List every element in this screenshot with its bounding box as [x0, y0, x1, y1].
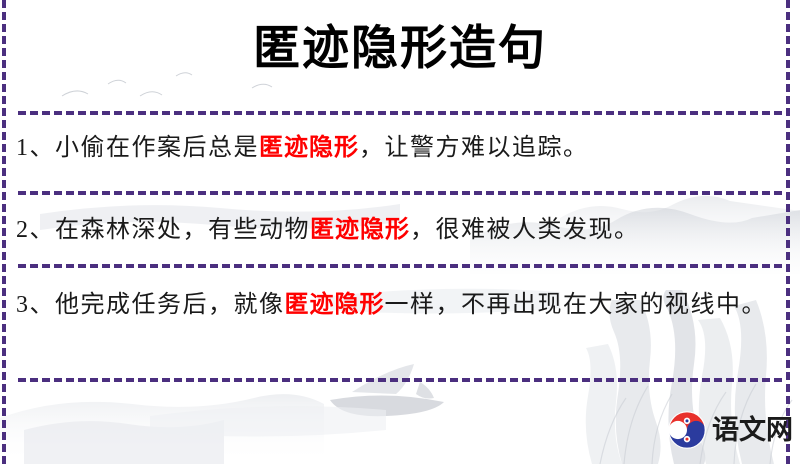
sentence-number: 1、 [16, 135, 55, 161]
sentence-text-before: 在森林深处，有些动物 [55, 217, 310, 243]
yinyang-fish-icon [668, 411, 706, 449]
sentence-item: 2、在森林深处，有些动物匿迹隐形，很难被人类发现。 [16, 209, 782, 251]
page-title: 匿迹隐形造句 [253, 20, 547, 78]
worksheet-page: 匿迹隐形造句 1、小偷在作案后总是匿迹隐形，让警方难以追踪。 2、在森林深处，有… [0, 0, 800, 464]
sentence-text-after: ，让警方难以追踪。 [359, 135, 589, 161]
site-watermark-logo: 语文网 [668, 411, 793, 449]
page-title-container: 匿迹隐形造句 [0, 20, 800, 78]
site-name: 语文网 [712, 415, 793, 445]
sentence-item: 3、他完成任务后，就像匿迹隐形一样，不再出现在大家的视线中。 [16, 284, 782, 326]
keyword-highlight: 匿迹隐形 [285, 292, 385, 318]
sentence-number: 3、 [16, 292, 55, 318]
sentence-item: 1、小偷在作案后总是匿迹隐形，让警方难以追踪。 [16, 127, 782, 169]
sentence-text-after: ，很难被人类发现。 [410, 217, 640, 243]
keyword-highlight: 匿迹隐形 [259, 135, 359, 161]
divider-3 [18, 264, 782, 268]
sentence-text-before: 小偷在作案后总是 [55, 135, 259, 161]
sentence-number: 2、 [16, 217, 55, 243]
keyword-highlight: 匿迹隐形 [310, 217, 410, 243]
sentence-text-after: 一样，不再出现在大家的视线中。 [385, 292, 768, 318]
sentence-text-before: 他完成任务后，就像 [55, 292, 285, 318]
divider-1 [18, 111, 782, 115]
divider-2 [18, 191, 782, 195]
divider-4 [18, 378, 782, 382]
